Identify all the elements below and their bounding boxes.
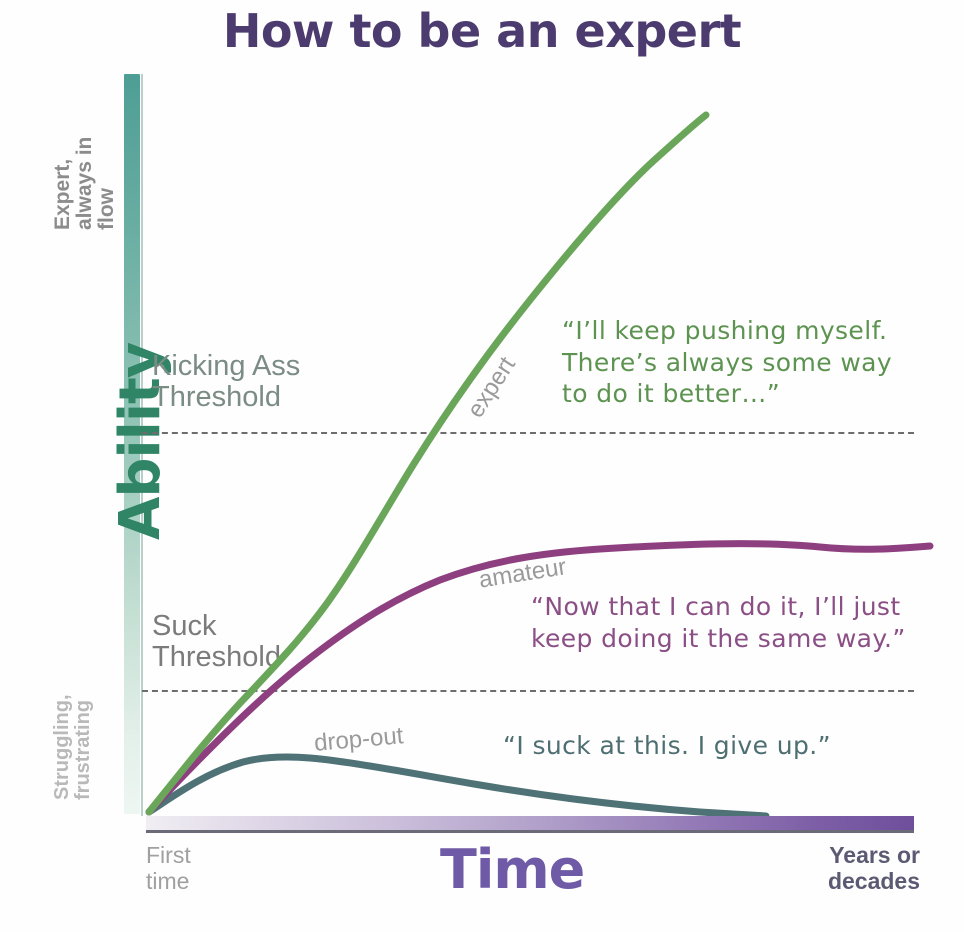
x-axis-line xyxy=(146,830,914,833)
x-axis-end-label: Years or decades xyxy=(828,843,920,895)
expert-quote: “I’ll keep pushing myself. There’s alway… xyxy=(562,315,892,410)
x-axis-gradient-bar xyxy=(146,816,914,830)
x-axis-title: Time xyxy=(440,838,584,901)
curves-plot xyxy=(0,0,964,932)
dropout-curve xyxy=(149,757,766,816)
dropout-quote: “I suck at this. I give up.” xyxy=(503,730,831,762)
expert-curve xyxy=(149,115,706,812)
chart-canvas: How to be an expert Expert, always in fl… xyxy=(0,0,964,932)
amateur-quote: “Now that I can do it, I’ll just keep do… xyxy=(531,591,906,654)
x-axis-start-label: First time xyxy=(146,843,191,895)
